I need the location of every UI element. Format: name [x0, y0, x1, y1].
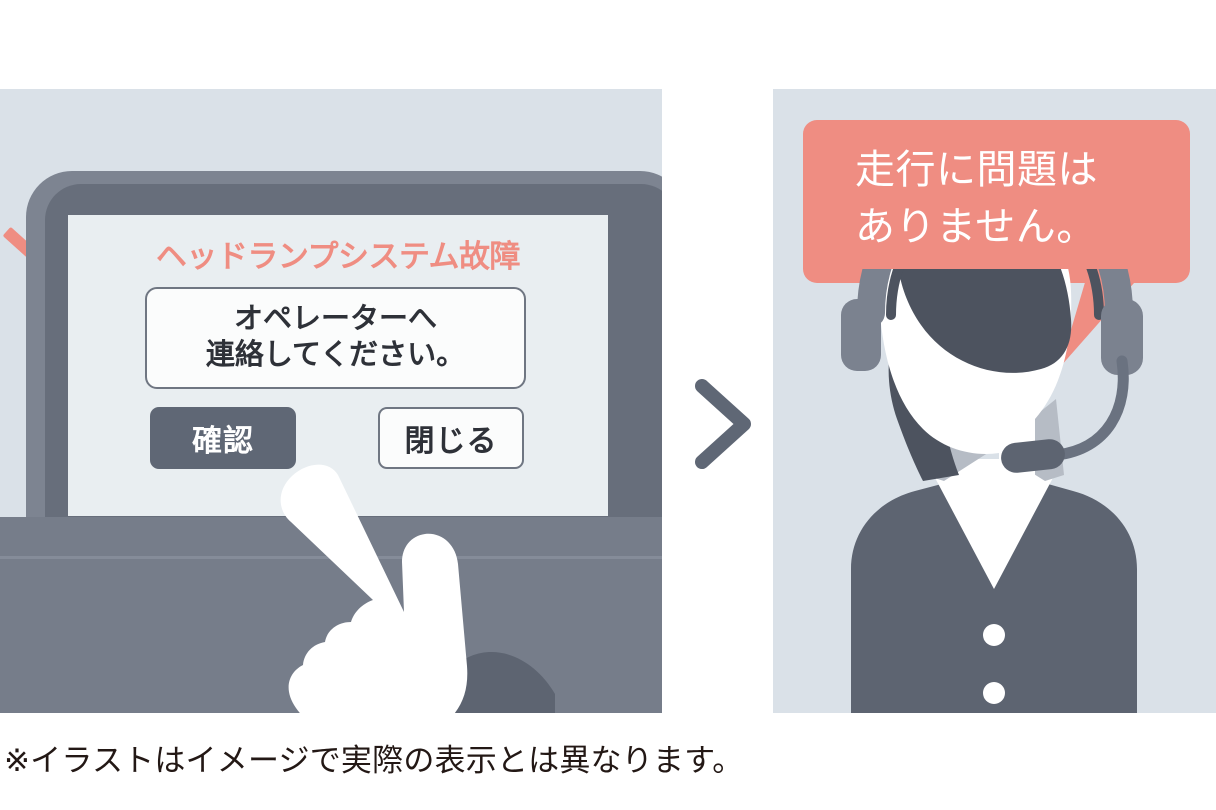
message-line-1: オペレーターへ: [234, 302, 437, 338]
illustration-stage: ヘッドランプシステム故障 オペレーターへ 連絡してください。 確認 閉じる 走行…: [0, 0, 1216, 810]
message-line-2: 連絡してください。: [206, 338, 465, 374]
dashboard-body-seam: [0, 556, 662, 559]
speech-bubble: 走行に問題は ありません。: [803, 120, 1190, 283]
screen-button-row: 確認 閉じる: [68, 407, 608, 469]
close-button[interactable]: 閉じる: [378, 407, 524, 469]
speech-bubble-line-2: ありません。: [855, 199, 1190, 256]
left-panel-dashboard: ヘッドランプシステム故障 オペレーターへ 連絡してください。 確認 閉じる: [0, 89, 662, 713]
chevron-right-icon: [680, 378, 768, 470]
right-panel-operator: 走行に問題は ありません。: [773, 89, 1216, 713]
message-box: オペレーターへ 連絡してください。: [145, 287, 526, 389]
footnote-caption: ※イラストはイメージで実際の表示とは異なります。: [4, 735, 743, 780]
dashboard-body: [0, 517, 662, 713]
speech-bubble-line-1: 走行に問題は: [855, 142, 1190, 199]
warning-title: ヘッドランプシステム故障: [68, 231, 608, 276]
dashboard-screen: ヘッドランプシステム故障 オペレーターへ 連絡してください。 確認 閉じる: [68, 215, 608, 516]
confirm-button[interactable]: 確認: [150, 407, 296, 469]
headset-operator-icon: [773, 269, 1216, 713]
